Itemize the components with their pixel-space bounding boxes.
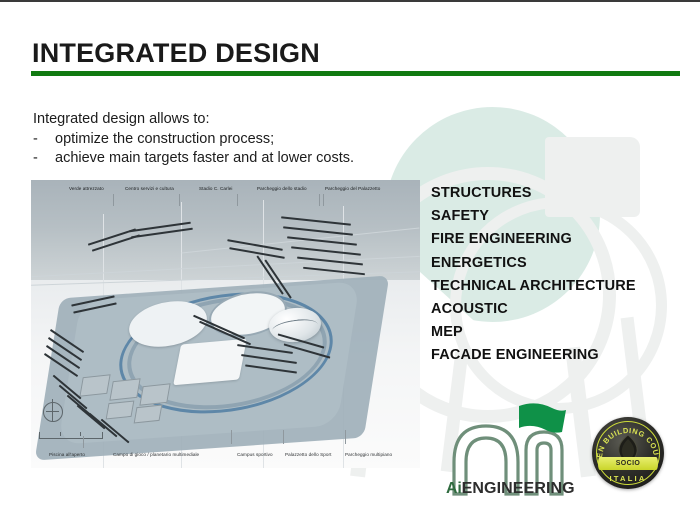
discipline-item-facade-engineering: FACADE ENGINEERING	[431, 344, 636, 367]
slide: INTEGRATED DESIGN Integrated design allo…	[0, 0, 700, 526]
ai-engineering-wordmark: AiENGINEERING	[446, 480, 575, 498]
render-top-label: Centro servizi e cultura	[125, 186, 174, 191]
render-bottom-label: Parcheggio multipiano	[345, 452, 392, 457]
render-top-label: Verde attrezzato	[69, 186, 104, 191]
bullet-text: achieve main targets faster and at lower…	[55, 149, 354, 168]
badge-banner: SOCIO	[598, 457, 658, 470]
discipline-item-technical-architecture: TECHNICAL ARCHITECTURE	[431, 275, 636, 298]
green-flag-icon	[519, 403, 566, 432]
bullet-text: optimize the construction process;	[55, 130, 274, 149]
render-parking-block	[109, 378, 140, 400]
intro-bullet-1: - optimize the construction process;	[33, 130, 354, 149]
discipline-item-safety: SAFETY	[431, 205, 636, 228]
page-title: INTEGRATED DESIGN	[32, 38, 320, 69]
render-parking-block	[106, 400, 135, 419]
render-top-label-band: Verde attrezzato Centro servizi e cultur…	[31, 180, 420, 210]
render-playing-field	[173, 339, 247, 386]
ai-prefix: Ai	[446, 480, 462, 497]
ai-suffix: ENGINEERING	[462, 480, 575, 497]
render-bottom-label: Palazzetto dello Sport	[285, 452, 331, 457]
render-bottom-label: Piscina all'aperto	[49, 452, 85, 457]
scale-bar-icon	[39, 432, 103, 439]
discipline-item-fire-engineering: FIRE ENGINEERING	[431, 228, 636, 251]
discipline-item-mep: MEP	[431, 321, 636, 344]
discipline-item-energetics: ENERGETICS	[431, 252, 636, 275]
render-bottom-label: Campo di gioco / planetario multimediale	[113, 452, 199, 457]
bullet-marker: -	[33, 130, 55, 149]
render-top-label: Parcheggio del Palazzetto	[325, 186, 380, 191]
green-building-council-badge: GREEN BUILDING COUNCIL SOCIO ITALIA	[592, 417, 664, 489]
bullet-marker: -	[33, 149, 55, 168]
north-arrow-icon	[43, 402, 63, 422]
render-bottom-label: Campus sportivo	[237, 452, 273, 457]
discipline-item-acoustic: ACOUSTIC	[431, 298, 636, 321]
title-underline-rule	[31, 71, 680, 76]
masterplan-render-image: Verde attrezzato Centro servizi e cultur…	[31, 180, 420, 468]
discipline-list: STRUCTURES SAFETY FIRE ENGINEERING ENERG…	[431, 182, 636, 368]
render-top-label: Parcheggio dello stadio	[257, 186, 307, 191]
ai-engineering-logo: AiENGINEERING	[440, 402, 600, 500]
render-parking-block	[134, 404, 163, 423]
intro-bullet-2: - achieve main targets faster and at low…	[33, 149, 354, 168]
badge-bottom-label: ITALIA	[592, 474, 664, 483]
intro-text-block: Integrated design allows to: - optimize …	[33, 110, 354, 168]
discipline-item-structures: STRUCTURES	[431, 182, 636, 205]
intro-lead: Integrated design allows to:	[33, 110, 354, 129]
render-parking-block	[139, 383, 170, 405]
render-top-label: Stadio C. Carlei	[199, 186, 232, 191]
render-parking-block	[79, 374, 110, 396]
